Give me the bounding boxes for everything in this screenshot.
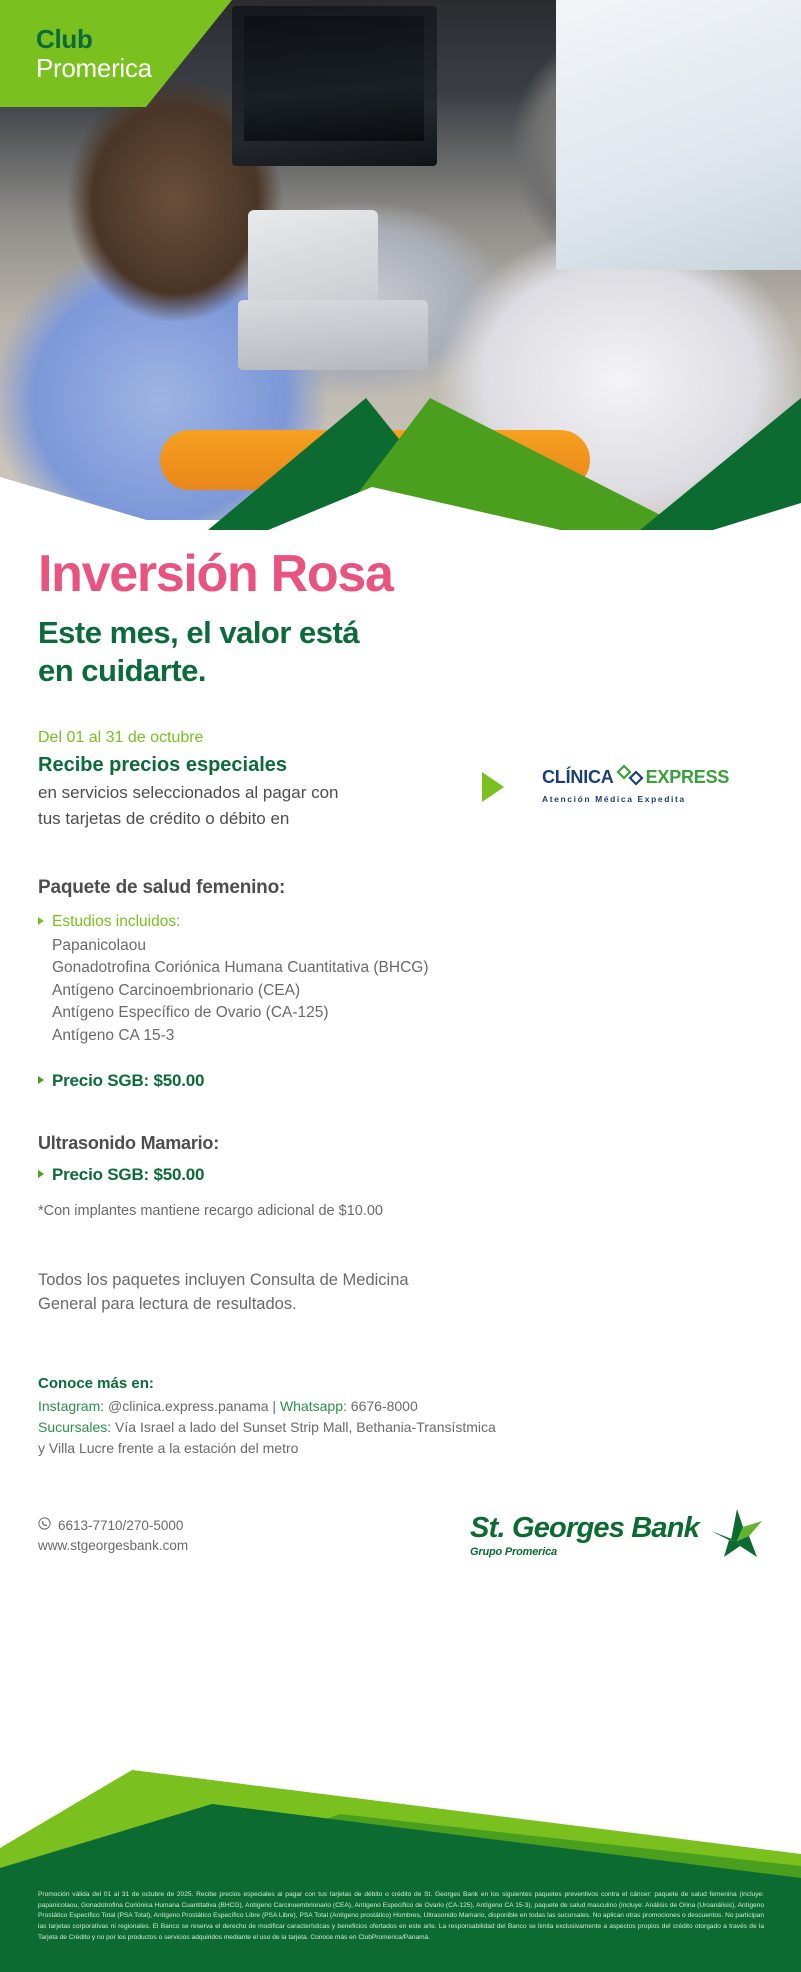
clinica-diamond-icon	[616, 764, 644, 791]
branches-line: Sucursales: Vía Israel a lado del Sunset…	[38, 1417, 763, 1438]
instagram-value[interactable]: @clinica.express.panama |	[104, 1398, 280, 1414]
promo-text-line-2: tus tarjetas de crédito o débito en	[38, 807, 478, 831]
clinica-logo-text: CLÍNICA	[542, 767, 614, 788]
hero-window	[556, 0, 801, 270]
studies-list: Papanicolaou Gonadotrofina Coriónica Hum…	[52, 935, 763, 1048]
studies-included-label: Estudios incluidos:	[52, 911, 180, 933]
ultrasound-title: Ultrasonido Mamario:	[38, 1133, 763, 1154]
general-note: Todos los paquetes incluyen Consulta de …	[38, 1268, 763, 1318]
subheadline: Este mes, el valor está en cuidarte.	[38, 614, 763, 690]
footer-chevron-bands: Promoción válida del 01 al 31 de octubre…	[0, 1770, 801, 1972]
logo-club-text: Club	[36, 25, 152, 54]
female-price-row: Precio SGB: $50.00	[38, 1070, 763, 1093]
bank-phone[interactable]: 6613-7710/270-5000	[58, 1516, 183, 1536]
clinica-tagline: Atención Médica Expedita	[542, 794, 729, 804]
ultrasound-note: *Con implantes mantiene recargo adiciona…	[38, 1201, 763, 1222]
contact-title: Conoce más en:	[38, 1373, 763, 1396]
list-item: Gonadotrofina Coriónica Humana Cuantitat…	[52, 957, 763, 980]
st-georges-bank-logo: St. Georges Bank Grupo Promerica	[470, 1507, 763, 1564]
whatsapp-icon	[38, 1516, 51, 1536]
express-logo-text: EXPRESS	[646, 767, 730, 788]
instagram-line: Instagram: @clinica.express.panama | Wha…	[38, 1396, 763, 1417]
promo-headline: Recibe precios especiales	[38, 751, 478, 779]
list-item: Antígeno Específico de Ovario (CA-125)	[52, 1002, 763, 1025]
promo-section: Del 01 al 31 de octubre Recibe precios e…	[38, 726, 763, 831]
legal-disclaimer: Promoción válida del 01 al 31 de octubre…	[38, 1890, 764, 1943]
footer-row: 6613-7710/270-5000 www.stgeorgesbank.com…	[38, 1507, 763, 1564]
branches-line-2: y Villa Lucre frente a la estación del m…	[38, 1438, 763, 1459]
bank-logo-name: St. Georges Bank	[470, 1514, 699, 1543]
contact-block: Conoce más en: Instagram: @clinica.expre…	[38, 1373, 763, 1459]
clinica-express-logo: CLÍNICA EXPRESS Atención Médica Expedita	[542, 764, 729, 804]
general-note-line-1: Todos los paquetes incluyen Consulta de …	[38, 1268, 763, 1293]
triangle-bullet-icon	[38, 917, 44, 925]
branches-value: Vía Israel a lado del Sunset Strip Mall,…	[111, 1419, 496, 1435]
ultrasound-console	[238, 300, 428, 370]
list-item: Antígeno CA 15-3	[52, 1025, 763, 1048]
whatsapp-value[interactable]: 6676-8000	[347, 1398, 418, 1414]
branches-label: Sucursales:	[38, 1419, 111, 1435]
subheadline-line-2: en cuidarte.	[38, 652, 763, 690]
female-package-price: Precio SGB: $50.00	[52, 1070, 204, 1093]
ultrasound-price: Precio SGB: $50.00	[52, 1164, 204, 1187]
star-icon	[707, 1507, 763, 1564]
ultrasound-price-row: Precio SGB: $50.00	[38, 1164, 763, 1187]
play-arrow-icon	[482, 772, 504, 802]
bank-website[interactable]: www.stgeorgesbank.com	[38, 1536, 188, 1556]
page-title: Inversión Rosa	[38, 548, 763, 600]
subheadline-line-1: Este mes, el valor está	[38, 614, 763, 652]
triangle-bullet-icon	[38, 1076, 44, 1084]
bank-logo-group: Grupo Promerica	[470, 1546, 699, 1558]
promo-date: Del 01 al 31 de octubre	[38, 726, 478, 749]
list-item: Antígeno Carcinoembrionario (CEA)	[52, 980, 763, 1003]
promo-text-line-1: en servicios seleccionados al pagar con	[38, 781, 478, 805]
female-package-title: Paquete de salud femenino:	[38, 877, 763, 899]
whatsapp-label: Whatsapp:	[280, 1398, 347, 1414]
bank-contact-block: 6613-7710/270-5000 www.stgeorgesbank.com	[38, 1516, 188, 1557]
ultrasound-panel	[248, 210, 378, 306]
general-note-line-2: General para lectura de resultados.	[38, 1292, 763, 1317]
instagram-label: Instagram:	[38, 1398, 104, 1414]
studies-included-row: Estudios incluidos:	[38, 911, 763, 933]
ultrasound-screen	[244, 16, 424, 141]
list-item: Papanicolaou	[52, 935, 763, 958]
triangle-bullet-icon	[38, 1170, 44, 1178]
logo-promerica-text: Promerica	[36, 54, 152, 83]
